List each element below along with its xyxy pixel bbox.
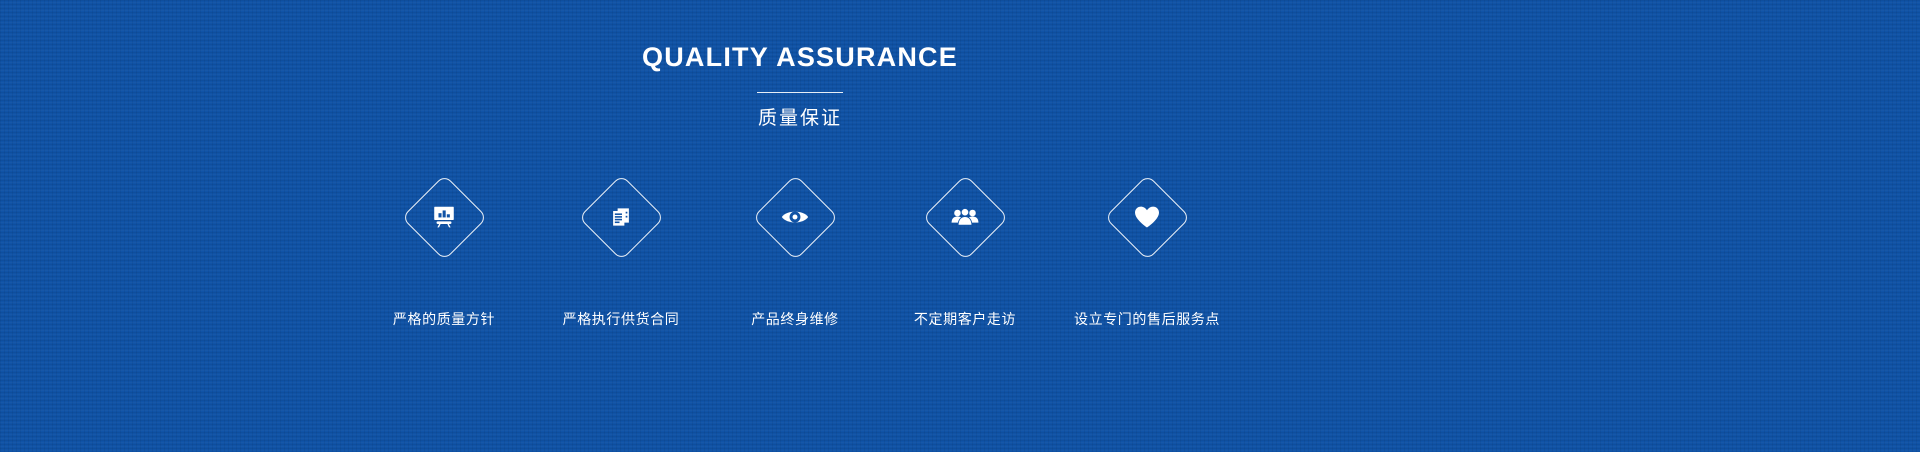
feature-item-lifetime-maintenance[interactable]: 产品终身维修: [709, 166, 881, 326]
feature-icon-frame: [1096, 166, 1198, 268]
users-group-icon: [945, 197, 985, 237]
feature-item-quality-policy[interactable]: 严格的质量方针: [355, 166, 533, 326]
feature-icon-frame: [744, 166, 846, 268]
page-title: QUALITY ASSURANCE: [0, 44, 1600, 71]
feature-label: 设立专门的售后服务点: [1074, 312, 1220, 326]
eye-icon: [775, 197, 815, 237]
presentation-chart-icon: [424, 197, 464, 237]
feature-list: 严格的质量方针: [355, 166, 1245, 326]
quality-assurance-section: QUALITY ASSURANCE 质量保证: [0, 0, 1920, 452]
feature-item-supply-contract[interactable]: 严格执行供货合同: [533, 166, 709, 326]
feature-label: 严格的质量方针: [393, 312, 495, 326]
feature-item-after-sales-service[interactable]: 设立专门的售后服务点: [1049, 166, 1245, 326]
feature-label: 产品终身维修: [751, 312, 839, 326]
page-subtitle: 质量保证: [0, 109, 1600, 128]
feature-icon-frame: [570, 166, 672, 268]
feature-icon-frame: [914, 166, 1016, 268]
section-header: QUALITY ASSURANCE 质量保证: [0, 0, 1600, 128]
feature-label: 严格执行供货合同: [563, 312, 680, 326]
feature-item-customer-visit[interactable]: 不定期客户走访: [881, 166, 1049, 326]
feature-icon-frame: [393, 166, 495, 268]
title-divider: [757, 92, 843, 93]
section-content: QUALITY ASSURANCE 质量保证: [0, 0, 1600, 452]
contract-document-icon: [601, 197, 641, 237]
feature-label: 不定期客户走访: [914, 312, 1016, 326]
heart-icon: [1127, 197, 1167, 237]
